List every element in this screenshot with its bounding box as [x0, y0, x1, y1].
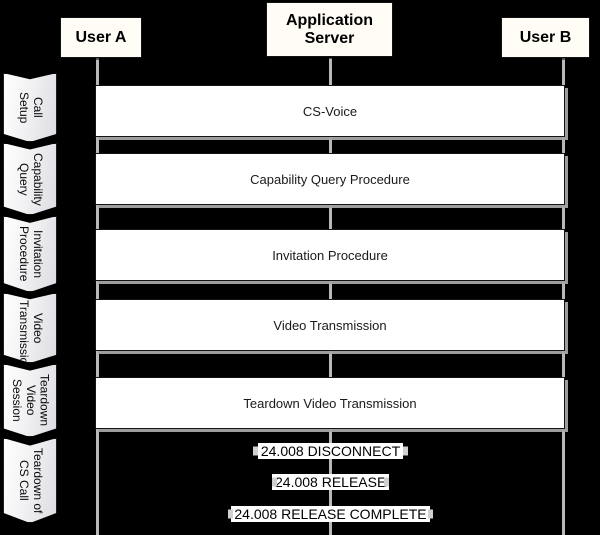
message-disconnect-label: 24.008 DISCONNECT: [258, 443, 403, 459]
stage-teardown-video-label: Teardown Video Session: [9, 365, 50, 436]
message-disconnect-right-cap-icon: [403, 447, 408, 456]
stage-video-transmission-label: Video Transmission: [16, 294, 44, 362]
stage-video-transmission[interactable]: Video Transmission: [3, 293, 57, 363]
procedure-cs-voice[interactable]: CS-Voice: [95, 85, 565, 137]
message-release-left-cap-icon: [272, 478, 277, 487]
stage-teardown-cs-call[interactable]: Teardown of CS Call: [3, 438, 57, 523]
stage-call-setup[interactable]: Call Setup: [3, 73, 57, 142]
stage-capability-query[interactable]: Capability Query: [3, 143, 57, 215]
actor-application-server-label: ApplicationServer: [286, 12, 373, 48]
message-disconnect[interactable]: 24.008 DISCONNECT: [253, 443, 408, 459]
actor-user-b[interactable]: User B: [501, 17, 590, 58]
message-release-complete-label: 24.008 RELEASE COMPLETE: [231, 506, 429, 522]
procedure-capability-query[interactable]: Capability Query Procedure: [95, 153, 565, 205]
stage-teardown-cs-call-label: Teardown of CS Call: [16, 439, 44, 522]
procedure-capability-query-label: Capability Query Procedure: [250, 172, 410, 187]
stage-teardown-video[interactable]: Teardown Video Session: [3, 364, 57, 437]
stage-call-setup-label: Call Setup: [16, 74, 44, 141]
message-release-label: 24.008 RELEASE: [272, 474, 389, 490]
message-release-complete[interactable]: 24.008 RELEASE COMPLETE: [228, 506, 433, 522]
procedure-video-transmission[interactable]: Video Transmission: [95, 299, 565, 351]
stage-capability-query-label: Capability Query: [16, 144, 44, 214]
actor-user-b-label: User B: [520, 29, 572, 47]
message-disconnect-left-cap-icon: [253, 447, 258, 456]
procedure-invitation[interactable]: Invitation Procedure: [95, 229, 565, 281]
actor-user-a[interactable]: User A: [60, 17, 142, 58]
sequence-diagram: User A ApplicationServer User B Call Set…: [0, 0, 600, 535]
actor-application-server[interactable]: ApplicationServer: [266, 2, 393, 57]
message-release-complete-right-cap-icon: [428, 510, 433, 519]
procedure-teardown-video-transmission[interactable]: Teardown Video Transmission: [95, 377, 565, 429]
procedure-video-transmission-label: Video Transmission: [273, 318, 386, 333]
procedure-teardown-video-transmission-label: Teardown Video Transmission: [243, 396, 416, 411]
stage-invitation-label: Invitation Procedure: [16, 217, 44, 291]
actor-user-a-label: User A: [76, 29, 127, 47]
stage-invitation[interactable]: Invitation Procedure: [3, 216, 57, 292]
message-release-right-cap-icon: [384, 478, 389, 487]
message-release-complete-left-cap-icon: [228, 510, 233, 519]
message-release[interactable]: 24.008 RELEASE: [272, 474, 389, 490]
procedure-cs-voice-label: CS-Voice: [303, 104, 357, 119]
procedure-invitation-label: Invitation Procedure: [272, 248, 388, 263]
